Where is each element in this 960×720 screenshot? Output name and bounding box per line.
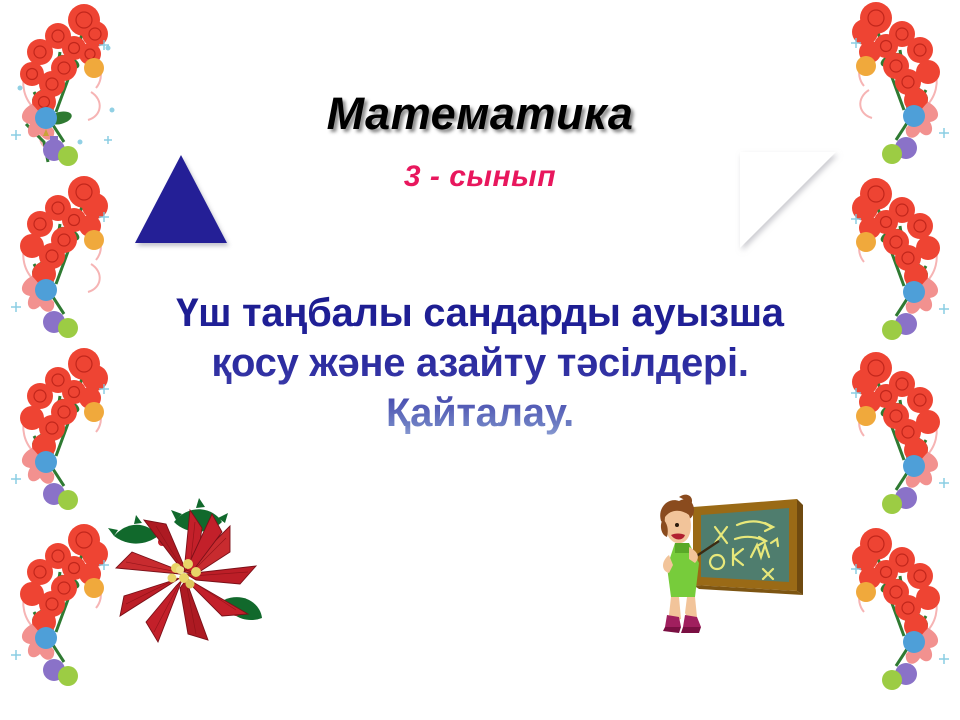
slide-canvas: Математика 3 - сынып Үш таңбалы сандарды… (0, 0, 960, 720)
lesson-topic-line-2: қосу және азайту тәсілдері. (80, 338, 880, 388)
slide-title: Математика (0, 88, 960, 140)
poinsettia-flower-clipart (96, 492, 276, 652)
rose-bouquet-motif (834, 516, 960, 696)
lesson-topic-heading: Үш таңбалы сандарды ауызша қосу және аза… (80, 288, 880, 438)
lesson-topic-line-1: Үш таңбалы сандарды ауызша (80, 288, 880, 338)
rose-bouquet-motif (834, 0, 960, 170)
lesson-topic-line-3: Қайталау. (80, 388, 880, 438)
teacher-at-chalkboard-clipart (645, 485, 815, 640)
slide-subtitle: 3 - сынып (0, 160, 960, 194)
rose-bouquet-motif (0, 0, 126, 172)
